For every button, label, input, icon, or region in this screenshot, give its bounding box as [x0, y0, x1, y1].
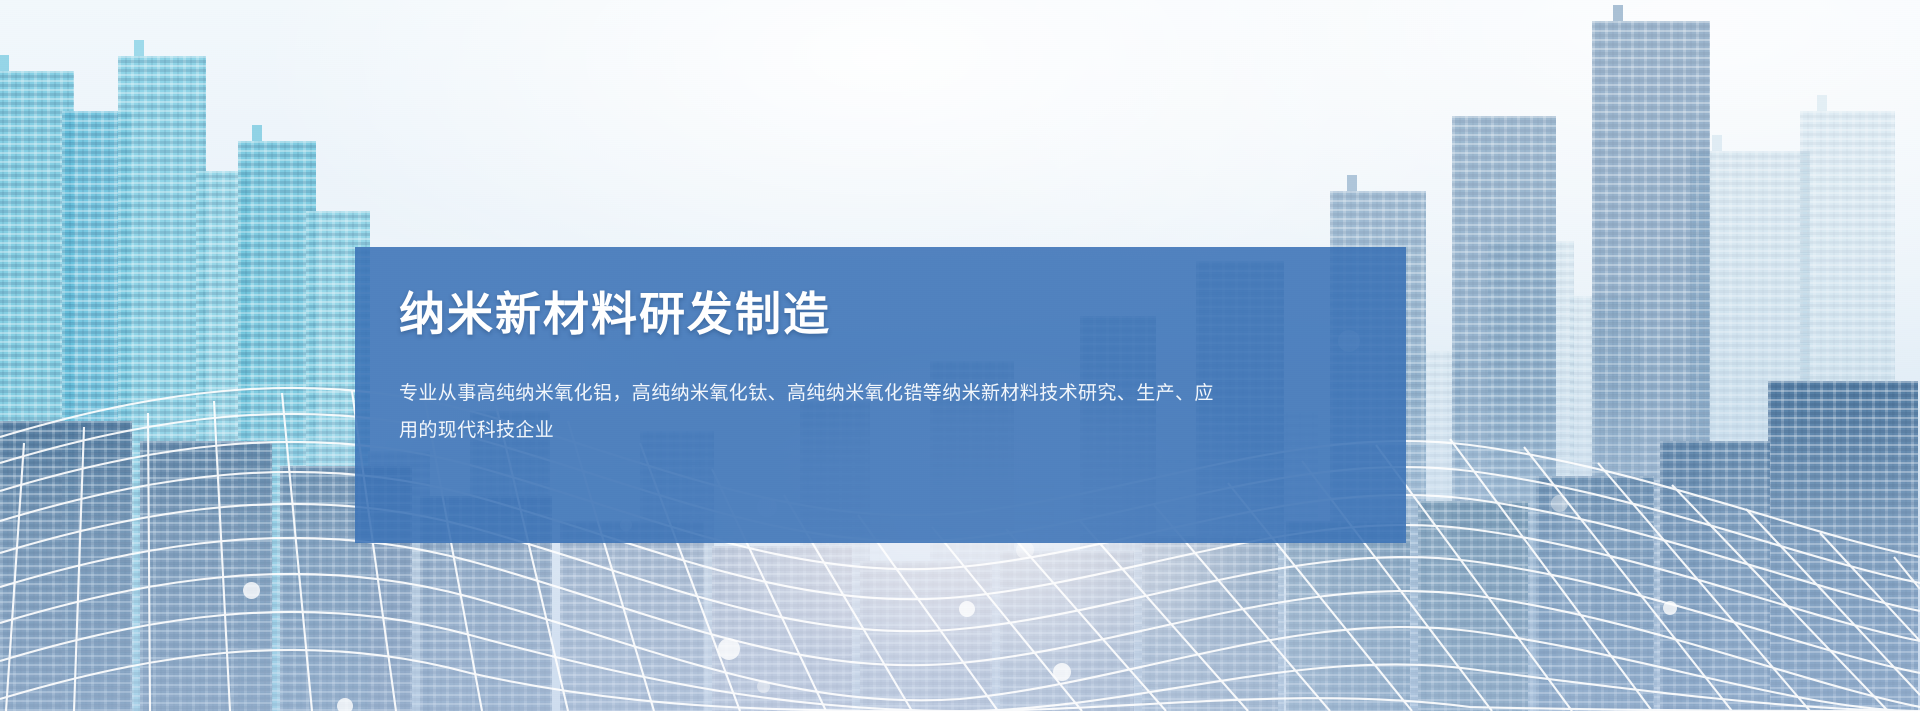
hero-text-panel: 纳米新材料研发制造 专业从事高纯纳米氧化铝，高纯纳米氧化钛、高纯纳米氧化锆等纳米… [355, 247, 1406, 543]
page-title: 纳米新材料研发制造 [399, 289, 1362, 341]
hero-banner: 纳米新材料研发制造 专业从事高纯纳米氧化铝，高纯纳米氧化钛、高纯纳米氧化锆等纳米… [0, 0, 1920, 711]
page-description: 专业从事高纯纳米氧化铝，高纯纳米氧化钛、高纯纳米氧化锆等纳米新材料技术研究、生产… [399, 341, 1229, 449]
